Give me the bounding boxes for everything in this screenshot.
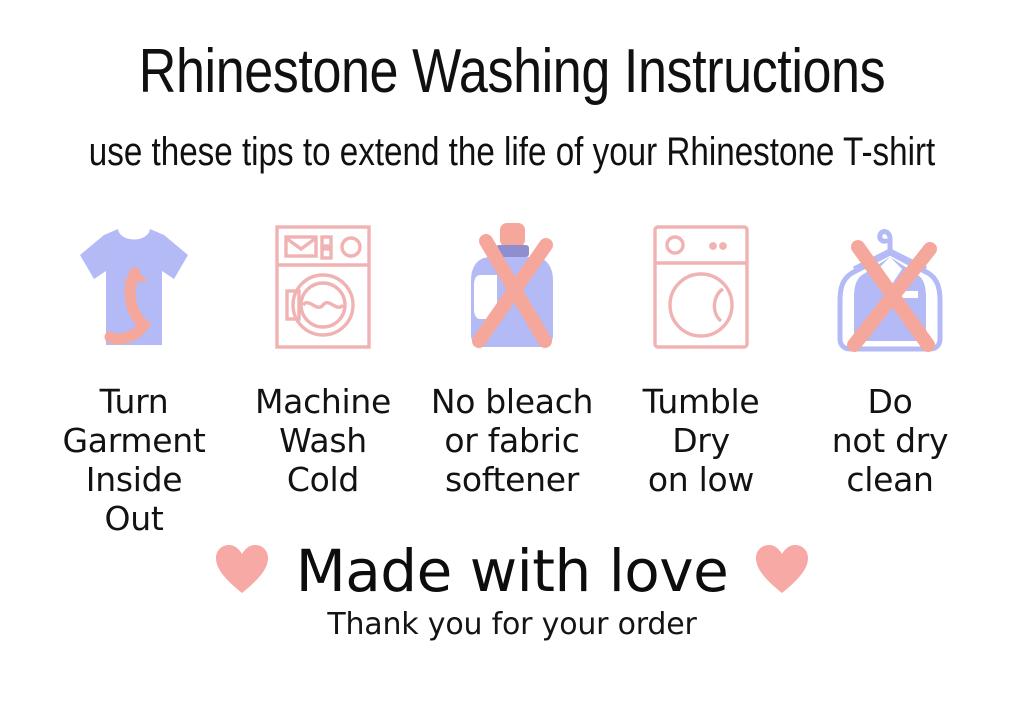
instruction-caption-row: Turn Garment Inside Out Machine Wash Col… [40, 382, 984, 538]
icon-cell-tumble-dry [607, 212, 795, 362]
made-with-love-text: Made with love [296, 536, 729, 606]
washing-instructions-card: Rhinestone Washing Instructions use thes… [0, 0, 1024, 724]
icon-cell-turn-inside-out [40, 212, 228, 362]
caption-tumble-dry: Tumble Dry on low [607, 382, 795, 499]
tumble-dryer-icon [649, 221, 753, 353]
no-dry-clean-icon [828, 217, 952, 357]
caption-no-dry-clean: Do not dry clean [796, 382, 984, 499]
heart-icon-left [214, 543, 270, 599]
caption-machine-wash: Machine Wash Cold [229, 382, 417, 499]
page-title: Rhinestone Washing Instructions [82, 36, 942, 108]
heart-icon-right [754, 543, 810, 599]
caption-turn-inside-out: Turn Garment Inside Out [40, 382, 228, 538]
icon-cell-no-bleach [418, 212, 606, 362]
made-with-love-row: Made with love [0, 536, 1024, 606]
icon-cell-no-dry-clean [796, 212, 984, 362]
icon-cell-machine-wash [229, 212, 417, 362]
washing-machine-icon [271, 221, 375, 353]
caption-no-bleach: No bleach or fabric softener [418, 382, 606, 499]
no-bleach-bottle-icon [453, 219, 571, 355]
tshirt-inside-out-icon [74, 221, 194, 353]
instruction-icon-row [40, 212, 984, 362]
page-subtitle: use these tips to extend the life of you… [87, 128, 937, 176]
thank-you-text: Thank you for your order [0, 606, 1024, 644]
